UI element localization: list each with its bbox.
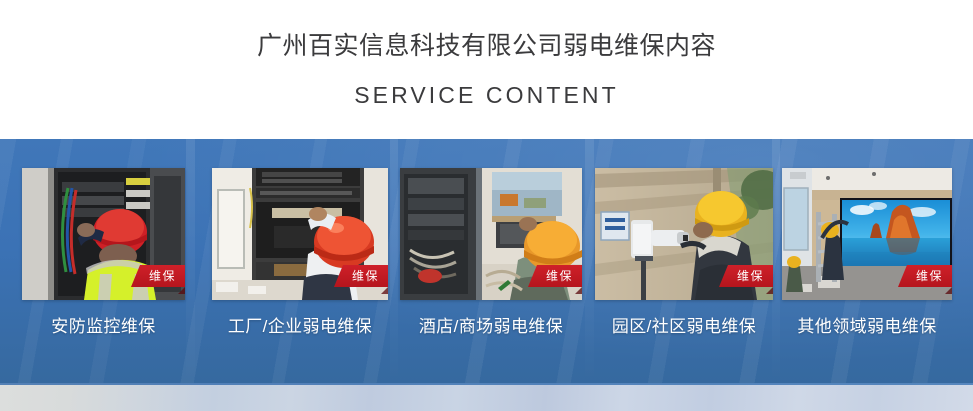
bottom-strip	[0, 383, 973, 411]
service-card[interactable]: 维保园区/社区弱电维保	[595, 168, 773, 338]
maintenance-badge: 维保	[528, 265, 582, 287]
service-card-label: 安防监控维保	[22, 316, 185, 338]
service-card[interactable]: 维保安防监控维保	[22, 168, 185, 338]
maintenance-badge: 维保	[898, 265, 952, 287]
maintenance-badge: 维保	[719, 265, 773, 287]
badge-notch	[945, 287, 952, 294]
page-title: 广州百实信息科技有限公司弱电维保内容	[257, 31, 716, 61]
service-card-photo: 维保	[400, 168, 582, 300]
service-card-label: 园区/社区弱电维保	[595, 316, 773, 338]
service-card[interactable]: 维保酒店/商场弱电维保	[400, 168, 582, 338]
maintenance-badge: 维保	[334, 265, 388, 287]
service-card-label: 酒店/商场弱电维保	[400, 316, 582, 338]
badge-notch	[766, 287, 773, 294]
maintenance-badge: 维保	[131, 265, 185, 287]
service-card-label: 其他领域弱电维保	[782, 316, 952, 338]
service-card-photo: 维保	[782, 168, 952, 300]
page-subtitle: SERVICE CONTENT	[354, 82, 619, 108]
service-content-banner: 广州百实信息科技有限公司弱电维保内容 SERVICE CONTENT 维保安防监…	[0, 0, 973, 411]
badge-notch	[381, 287, 388, 294]
service-card-photo: 维保	[595, 168, 773, 300]
service-card[interactable]: 维保其他领域弱电维保	[782, 168, 952, 338]
header: 广州百实信息科技有限公司弱电维保内容 SERVICE CONTENT	[0, 0, 973, 139]
service-card-photo: 维保	[22, 168, 185, 300]
service-card-list: 维保安防监控维保 维保工厂/企业弱电维保 维保酒店	[0, 139, 973, 383]
badge-notch	[178, 287, 185, 294]
service-card[interactable]: 维保工厂/企业弱电维保	[212, 168, 388, 338]
service-card-label: 工厂/企业弱电维保	[212, 316, 388, 338]
service-card-photo: 维保	[212, 168, 388, 300]
badge-notch	[575, 287, 582, 294]
